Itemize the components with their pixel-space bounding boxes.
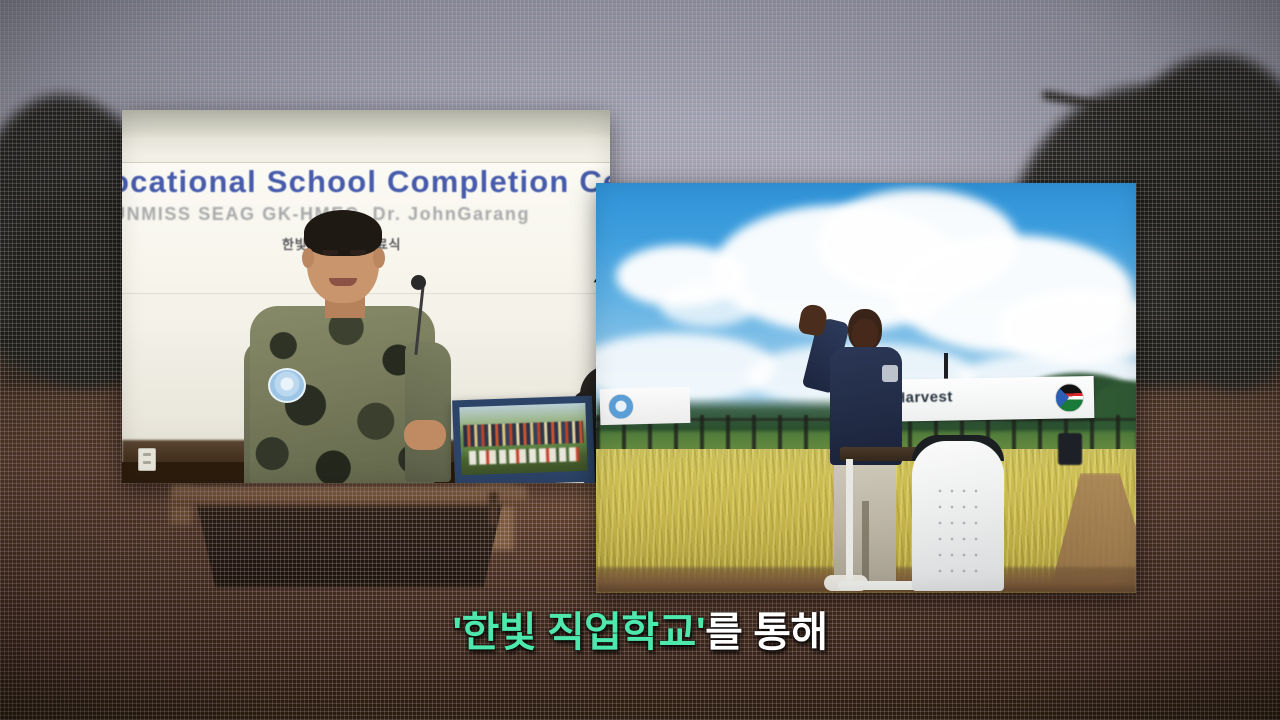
certificate-document (466, 482, 587, 483)
ceremony-photo-card: ocational School Completion Ceremon UNMI… (122, 110, 610, 483)
subtitle-plain-text: 를 통해 (705, 609, 828, 655)
soldier-hand-upper (404, 420, 446, 450)
wooden-trough-post (489, 492, 498, 526)
speaker-face (852, 319, 878, 349)
video-frame: ocational School Completion Ceremon UNMI… (0, 0, 1280, 720)
soldier-ear-left (302, 248, 314, 268)
wooden-trough-rim (172, 486, 527, 506)
trash-bin (1058, 433, 1082, 465)
south-sudan-flag-icon (1055, 383, 1085, 413)
soldier-hair (304, 210, 382, 256)
soldier-mouth (329, 278, 357, 286)
wooden-trough-body (182, 498, 517, 588)
certificate-folder (452, 396, 598, 483)
certificate-group-photo (459, 403, 587, 475)
rice-harvest-photo-card: ce Harvest (596, 183, 1136, 593)
ceremony-banner-title: ocational School Completion Ceremon (122, 164, 610, 200)
soldier-ear-right (373, 248, 385, 268)
subtitle-caption: '한빛 직업학교'를 통해 (0, 604, 1280, 660)
soldier-eye-left (322, 250, 338, 255)
soldier-eye-right (350, 250, 366, 255)
un-shoulder-patch-icon (268, 368, 306, 403)
podium-leg-left (846, 459, 853, 587)
speaker-leg-gap (862, 501, 869, 583)
soldier-arm-right (405, 342, 451, 482)
subtitle-accent-text: '한빛 직업학교' (452, 609, 705, 655)
un-logo-icon (608, 393, 635, 420)
speaker-id-badge-icon (882, 365, 898, 382)
cloud-6 (660, 283, 756, 327)
microphone-icon (411, 275, 426, 290)
rice-harvest-banner-left (600, 387, 691, 425)
ceremony-ceiling (122, 110, 610, 140)
podium-perforations (934, 483, 986, 577)
wall-outlet-icon (138, 448, 156, 471)
